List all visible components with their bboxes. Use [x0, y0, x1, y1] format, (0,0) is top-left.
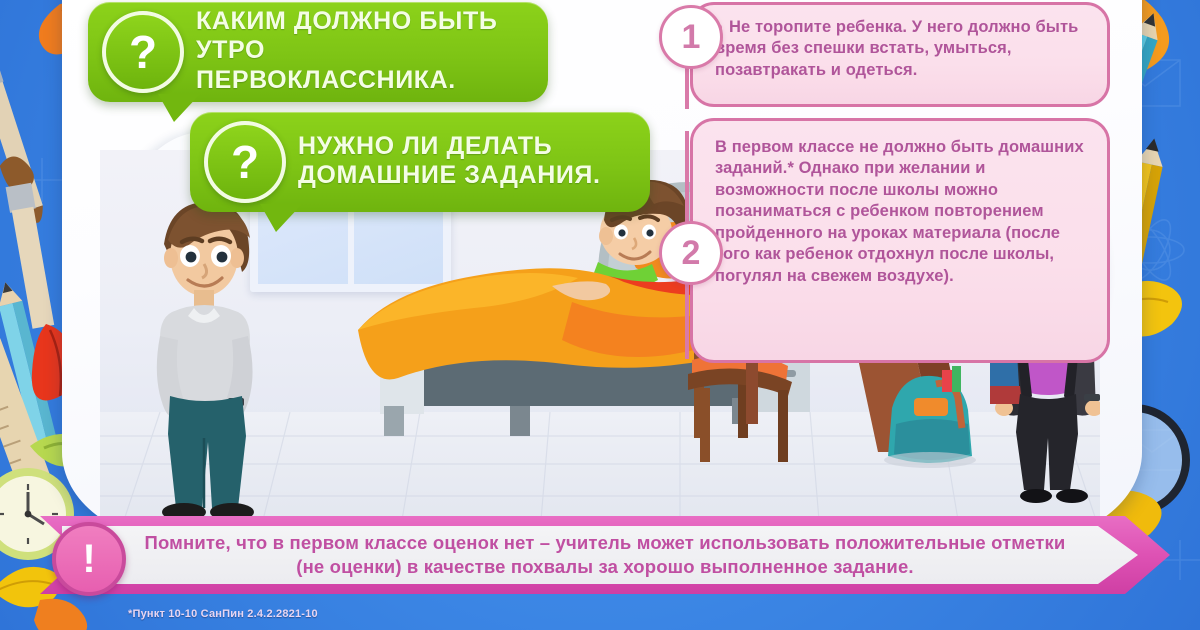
question-bubble-2-line1: НУЖНО ЛИ ДЕЛАТЬ [298, 132, 601, 162]
tip-1-text: Не торопите ребенка. У него должно быть … [715, 18, 1078, 79]
question-mark-icon: ? [102, 11, 184, 93]
tip-number-badge-1: 1 [659, 5, 723, 69]
tip-2-connector-bottom [685, 279, 689, 359]
bubble-tail [260, 204, 302, 232]
tip-number-badge-2: 2 [659, 221, 723, 285]
question-bubble-1-text: КАКИМ ДОЛЖНО БЫТЬ УТРО ПЕРВОКЛАССНИКА. [196, 7, 522, 96]
question-bubble-2[interactable]: ? НУЖНО ЛИ ДЕЛАТЬ ДОМАШНИЕ ЗАДАНИЯ. [190, 112, 650, 212]
question-bubble-2-text: НУЖНО ЛИ ДЕЛАТЬ ДОМАШНИЕ ЗАДАНИЯ. [298, 132, 601, 191]
exclamation-mark-icon: ! [52, 522, 126, 596]
question-mark-icon: ? [204, 121, 286, 203]
poster-root: ? КАКИМ ДОЛЖНО БЫТЬ УТРО ПЕРВОКЛАССНИКА.… [0, 0, 1200, 630]
tip-box-1[interactable]: 1 Не торопите ребенка. У него должно быт… [690, 2, 1110, 107]
banner-text: Помните, что в первом классе оценок нет … [132, 531, 1078, 578]
question-bubble-1-line2: УТРО ПЕРВОКЛАССНИКА. [196, 36, 522, 95]
footnote-text: *Пункт 10-10 СанПин 2.4.2.2821-10 [128, 608, 318, 620]
banner-inner: Помните, что в первом классе оценок нет … [62, 526, 1138, 584]
question-bubble-1[interactable]: ? КАКИМ ДОЛЖНО БЫТЬ УТРО ПЕРВОКЛАССНИКА. [88, 2, 548, 102]
father-figure [128, 192, 278, 520]
tip-2-body: В первом классе не должно быть домашних … [715, 137, 1089, 287]
question-bubble-1-line1: КАКИМ ДОЛЖНО БЫТЬ [196, 7, 522, 37]
tip-1-body: Не торопите ребенка. У него должно быть … [715, 17, 1089, 81]
bottom-banner: Помните, что в первом классе оценок нет … [40, 516, 1170, 594]
tip-2-connector-top [685, 131, 689, 223]
tip-1-connector [685, 63, 689, 109]
bubble-tail [158, 94, 200, 122]
tip-box-2[interactable]: 2 В первом классе не должно быть домашни… [690, 118, 1110, 363]
question-bubble-2-line2: ДОМАШНИЕ ЗАДАНИЯ. [298, 161, 601, 191]
